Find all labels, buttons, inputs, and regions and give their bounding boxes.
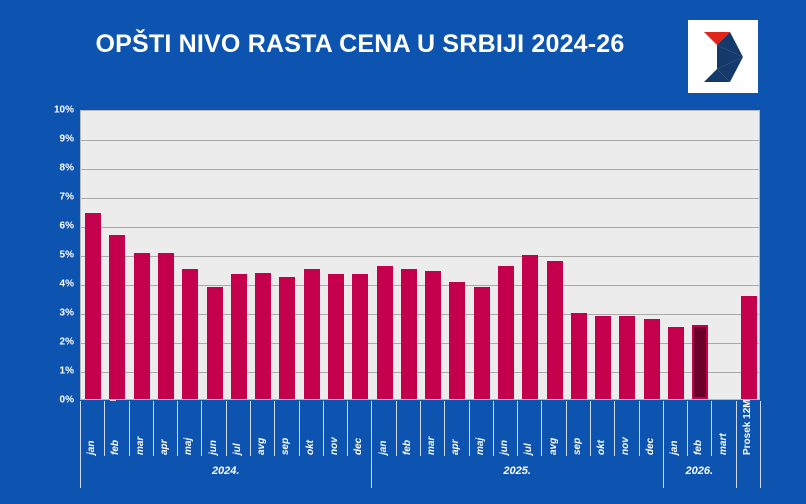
year-group-axis: 2024.2025.2026. (80, 456, 760, 496)
x-axis-separator (274, 401, 275, 456)
plot-area (80, 110, 760, 400)
x-axis-separator (639, 401, 640, 456)
x-axis-label-6: jul (232, 403, 243, 455)
year-group-label: 2025. (371, 465, 662, 477)
x-axis-separator (104, 401, 105, 456)
bar-sep-8[interactable] (279, 277, 295, 399)
x-axis-label-23: dec (645, 403, 656, 455)
x-axis-separator (566, 401, 567, 456)
x-axis-label-24: jan (669, 403, 680, 455)
x-axis-separator (663, 401, 664, 456)
year-group-separator (736, 456, 737, 488)
y-axis-tick-label: 9% (60, 134, 74, 145)
x-axis-label-4: maj (183, 403, 194, 455)
x-axis-separator (469, 401, 470, 456)
bar-nov-22[interactable] (619, 316, 635, 399)
x-axis: janfebmaraprmajjunjulavgsepoktnovdecjanf… (80, 401, 760, 456)
y-axis-tick-label: 5% (60, 250, 74, 261)
x-axis-label-14: mar (426, 403, 437, 455)
bar-dec-23[interactable] (644, 319, 660, 399)
bar-avg-7[interactable] (255, 273, 271, 399)
x-axis-separator (760, 401, 761, 456)
y-axis-tick-label: 3% (60, 308, 74, 319)
y-axis-tick-label: 1% (60, 366, 74, 377)
bar-jul-18[interactable] (522, 255, 538, 399)
x-axis-separator (80, 401, 81, 456)
bar-feb-25[interactable] (692, 325, 708, 399)
x-axis-separator (153, 401, 154, 456)
x-axis-separator (517, 401, 518, 456)
x-axis-label-22: nov (620, 403, 631, 455)
x-axis-label-1: feb (110, 403, 121, 455)
x-axis-separator (226, 401, 227, 456)
bar-maj-4[interactable] (182, 269, 198, 400)
y-axis-tick-label: 0% (60, 395, 74, 406)
bar-avg-19[interactable] (547, 261, 563, 399)
x-axis-label-20: sep (572, 403, 583, 455)
bar-dec-11[interactable] (352, 274, 368, 399)
year-group-label: 2024. (80, 465, 371, 477)
x-axis-separator (420, 401, 421, 456)
year-group-separator (760, 456, 761, 488)
bar-jan-12[interactable] (377, 266, 393, 399)
bar-apr-3[interactable] (158, 253, 174, 399)
y-axis-tick-label: 7% (60, 192, 74, 203)
x-axis-label-17: jun (499, 403, 510, 455)
bar-jan-0[interactable] (85, 213, 101, 399)
x-axis-separator (444, 401, 445, 456)
x-axis-separator (687, 401, 688, 456)
x-axis-label-18: jul (523, 403, 534, 455)
bar-feb-13[interactable] (401, 269, 417, 400)
y-axis: 10%9%8%7%6%5%4%3%2%1%0% (36, 110, 74, 400)
bar-nov-10[interactable] (328, 274, 344, 399)
x-axis-separator (590, 401, 591, 456)
x-axis-separator (371, 401, 372, 456)
y-axis-tick-label: 6% (60, 221, 74, 232)
x-axis-label-19: avg (548, 403, 559, 455)
x-axis-separator (250, 401, 251, 456)
x-axis-label-3: apr (159, 403, 170, 455)
y-axis-tick-label: 8% (60, 163, 74, 174)
bar-mar-2[interactable] (134, 253, 150, 399)
page-title: OPŠTI NIVO RASTA CENA U SRBIJI 2024-26 (60, 30, 660, 59)
x-axis-label-8: sep (280, 403, 291, 455)
bar-jul-6[interactable] (231, 274, 247, 399)
x-axis-separator (347, 401, 348, 456)
bar-sep-20[interactable] (571, 313, 587, 399)
x-axis-separator (396, 401, 397, 456)
x-axis-label-27: Prosek 12M (742, 403, 753, 455)
y-axis-tick-label: 2% (60, 337, 74, 348)
bar-apr-15[interactable] (449, 282, 465, 399)
bar-Prosek 12M-27[interactable] (741, 296, 757, 399)
bar-maj-16[interactable] (474, 287, 490, 399)
x-axis-separator (541, 401, 542, 456)
x-axis-separator (493, 401, 494, 456)
x-axis-label-2: mar (135, 403, 146, 455)
x-axis-label-26: mart (718, 403, 729, 455)
bar-feb-1[interactable] (109, 235, 125, 399)
bar-jun-17[interactable] (498, 266, 514, 399)
x-axis-separator (201, 401, 202, 456)
y-axis-tick-label: 4% (60, 279, 74, 290)
x-axis-separator (614, 401, 615, 456)
x-axis-separator (711, 401, 712, 456)
x-axis-label-0: jan (86, 403, 97, 455)
bar-jan-24[interactable] (668, 327, 684, 400)
bar-okt-21[interactable] (595, 316, 611, 399)
x-axis-label-16: maj (475, 403, 486, 455)
x-axis-label-25: feb (693, 403, 704, 455)
x-axis-separator (736, 401, 737, 456)
x-axis-label-7: avg (256, 403, 267, 455)
x-axis-separator (299, 401, 300, 456)
x-axis-separator (129, 401, 130, 456)
x-axis-label-15: apr (450, 403, 461, 455)
x-axis-label-12: jan (378, 403, 389, 455)
x-axis-separator (323, 401, 324, 456)
x-axis-label-5: jun (208, 403, 219, 455)
x-axis-separator (177, 401, 178, 456)
x-axis-label-11: dec (353, 403, 364, 455)
logo-arrow-icon (700, 30, 746, 84)
bar-series (81, 111, 759, 399)
x-axis-label-9: okt (305, 403, 316, 455)
x-axis-label-21: okt (596, 403, 607, 455)
x-axis-label-10: nov (329, 403, 340, 455)
x-axis-label-13: feb (402, 403, 413, 455)
bar-okt-9[interactable] (304, 269, 320, 400)
company-logo (688, 20, 758, 93)
bar-mar-14[interactable] (425, 271, 441, 399)
bar-jun-5[interactable] (207, 287, 223, 399)
chart-header: OPŠTI NIVO RASTA CENA U SRBIJI 2024-26 (0, 0, 806, 100)
year-group-label: 2026. (663, 465, 736, 477)
y-axis-tick-label: 10% (54, 105, 74, 116)
